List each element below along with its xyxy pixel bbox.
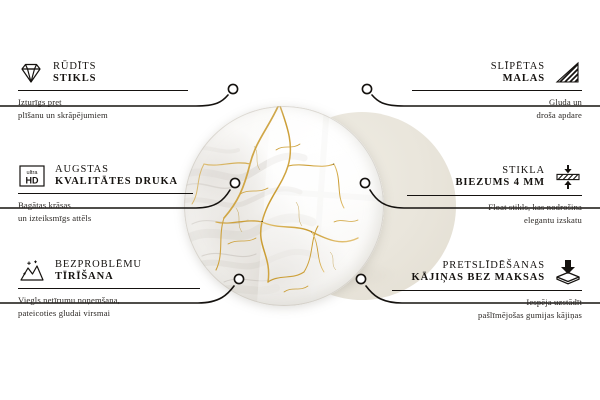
feature-title-line1: STIKLA [502,165,545,177]
feature-divider [392,290,582,291]
feature-description: Float stikls, kas nodrošina elegantu izs… [407,201,582,227]
feature-description: Iespēja uzstādīt pašlīmējošas gumijas kā… [392,296,582,322]
feature-anti-slip-feet: PRETSLĪDĒŠANAS KĀJIŅAS BEZ MAKSAS Iespēj… [392,259,582,322]
feature-polished-edges: SLĪPĒTAS MALAS Gluda un droša ap [412,61,582,122]
feature-title-line1: BEZPROBLĒMU [55,259,142,271]
feature-divider [18,193,193,194]
feature-divider [407,195,582,196]
feature-tempered-glass: RŪDĪTS STIKLS Izturīgs pret plīšanu un s… [18,61,188,122]
feature-title-line2: MALAS [503,73,545,85]
connector-dot-anti-slip-feet [356,274,365,283]
feature-title-line2: STIKLS [53,73,96,85]
feature-title-line1: SLĪPĒTAS [491,61,545,73]
svg-text:HD: HD [26,176,39,186]
feature-titles: BEZPROBLĒMU TĪRĪŠANA [55,259,142,283]
feature-header: STIKLA BIEZUMS 4 MM [407,164,582,190]
feature-header: RŪDĪTS STIKLS [18,61,188,85]
feature-divider [412,90,582,91]
feature-title-line1: RŪDĪTS [53,61,96,73]
feature-title-line2: BIEZUMS 4 MM [455,177,545,189]
feature-description: Viegls netīrumu noņemšana, pateicoties g… [18,294,200,320]
beveled-edge-icon [554,61,582,85]
feature-title-line1: AUGSTAS [55,164,178,176]
press-down-pad-icon [554,259,582,285]
feature-header: BEZPROBLĒMU TĪRĪŠANA [18,259,200,283]
connector-dot-easy-cleaning [234,274,243,283]
feature-titles: PRETSLĪDĒŠANAS KĀJIŅAS BEZ MAKSAS [412,260,545,284]
feature-divider [18,90,188,91]
sparkle-surface-icon [18,259,46,283]
feature-title-line2: TĪRĪŠANA [55,271,142,283]
connector-dot-glass-thickness [360,178,369,187]
ultra-hd-icon: ultra HD [18,164,46,188]
diamond-icon [18,62,44,84]
feature-description: Gluda un droša apdare [412,96,582,122]
feature-header: SLĪPĒTAS MALAS [412,61,582,85]
feature-titles: AUGSTAS KVALITĀTES DRUKA [55,164,178,188]
feature-divider [18,288,200,289]
connector-dot-polished-edges [362,84,371,93]
feature-titles: RŪDĪTS STIKLS [53,61,96,85]
feature-header: PRETSLĪDĒŠANAS KĀJIŅAS BEZ MAKSAS [392,259,582,285]
feature-title-line2: KVALITĀTES DRUKA [55,176,178,188]
connector-dot-hd-print [230,178,239,187]
feature-glass-thickness: STIKLA BIEZUMS 4 MM Float stikls [407,164,582,227]
feature-titles: STIKLA BIEZUMS 4 MM [455,165,545,189]
feature-titles: SLĪPĒTAS MALAS [491,61,545,85]
feature-description: Izturīgs pret plīšanu un skrāpējumiem [18,96,188,122]
feature-description: Bagātas krāsas un izteiksmīgs attēls [18,199,193,225]
connector-dot-tempered-glass [228,84,237,93]
feature-hd-print: ultra HD AUGSTAS KVALITĀTES DRUKA Bagāta… [18,164,193,225]
feature-title-line1: PRETSLĪDĒŠANAS [443,260,545,272]
thickness-arrows-icon [554,164,582,190]
feature-header: ultra HD AUGSTAS KVALITĀTES DRUKA [18,164,193,188]
infographic-canvas: RŪDĪTS STIKLS Izturīgs pret plīšanu un s… [0,0,600,400]
feature-title-line2: KĀJIŅAS BEZ MAKSAS [412,272,545,284]
feature-easy-cleaning: BEZPROBLĒMU TĪRĪŠANA Viegls netīrumu noņ… [18,259,200,320]
